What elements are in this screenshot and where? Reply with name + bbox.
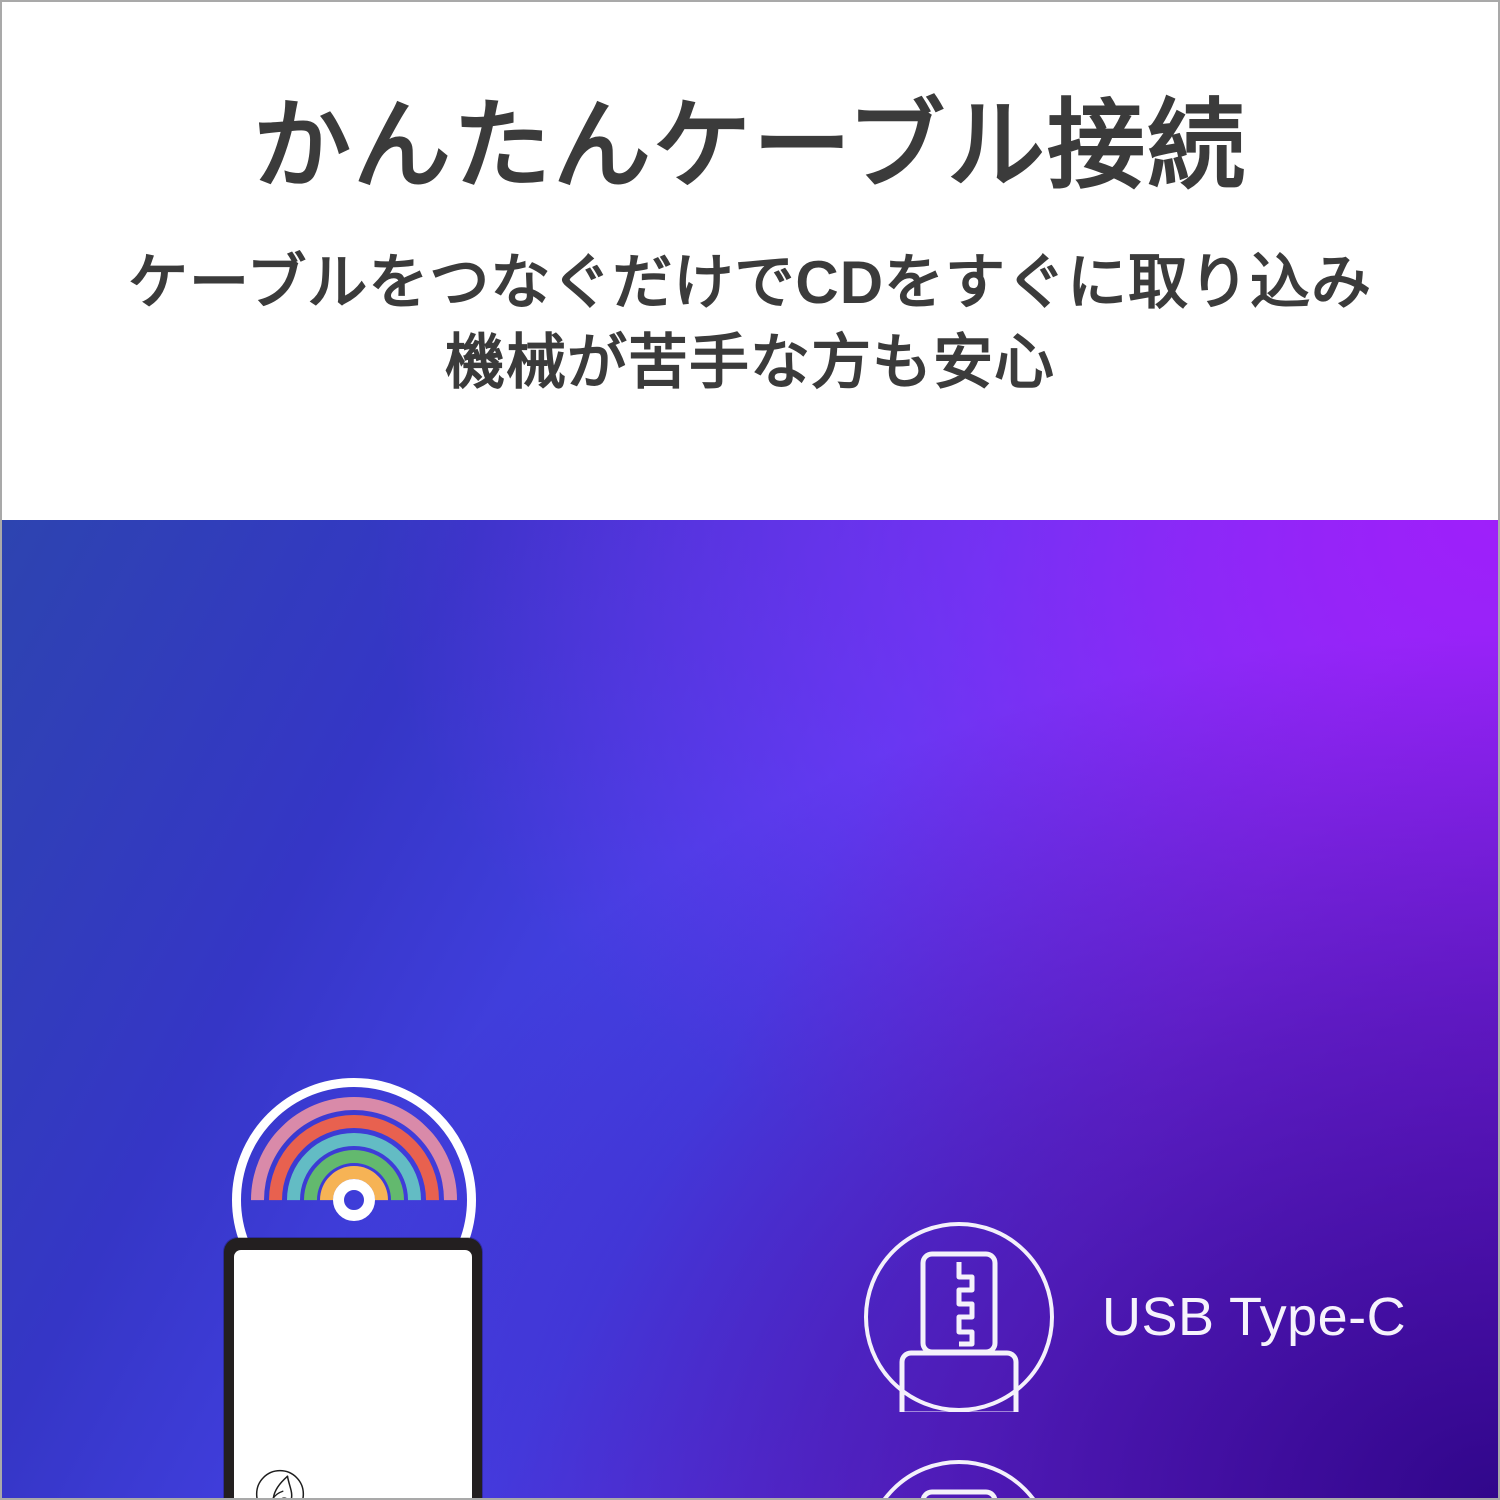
- music-note-logo: [252, 1466, 308, 1498]
- connector-label-usb-type-c: USB Type-C: [1102, 1286, 1406, 1348]
- connector-item-lightning: Lightning: [864, 1436, 1464, 1498]
- connector-list: USB Type-C: [864, 1198, 1464, 1498]
- subtitle-line-2: 機械が苦手な方も安心: [128, 323, 1372, 403]
- illustration-panel: 3種類の ケーブル添付 USB Type-C: [2, 520, 1498, 1498]
- page-title: かんたんケーブル接続: [253, 94, 1247, 197]
- cd-disc-hub: [333, 1179, 375, 1221]
- subtitle-line-1: ケーブルをつなぐだけでCDをすぐに取り込み: [128, 243, 1372, 323]
- page-subtitle: ケーブルをつなぐだけでCDをすぐに取り込み 機械が苦手な方も安心: [128, 243, 1372, 404]
- cd-drive-body: [224, 1238, 482, 1498]
- header-section: かんたんケーブル接続 ケーブルをつなぐだけでCDをすぐに取り込み 機械が苦手な方…: [2, 2, 1498, 520]
- usb-type-c-connector-icon: [864, 1222, 1054, 1412]
- product-feature-image: かんたんケーブル接続 ケーブルをつなぐだけでCDをすぐに取り込み 機械が苦手な方…: [0, 0, 1500, 1500]
- connector-item-usb-type-c: USB Type-C: [864, 1198, 1464, 1436]
- lightning-connector-icon: [864, 1460, 1054, 1498]
- cd-drive-front-face: [234, 1250, 472, 1498]
